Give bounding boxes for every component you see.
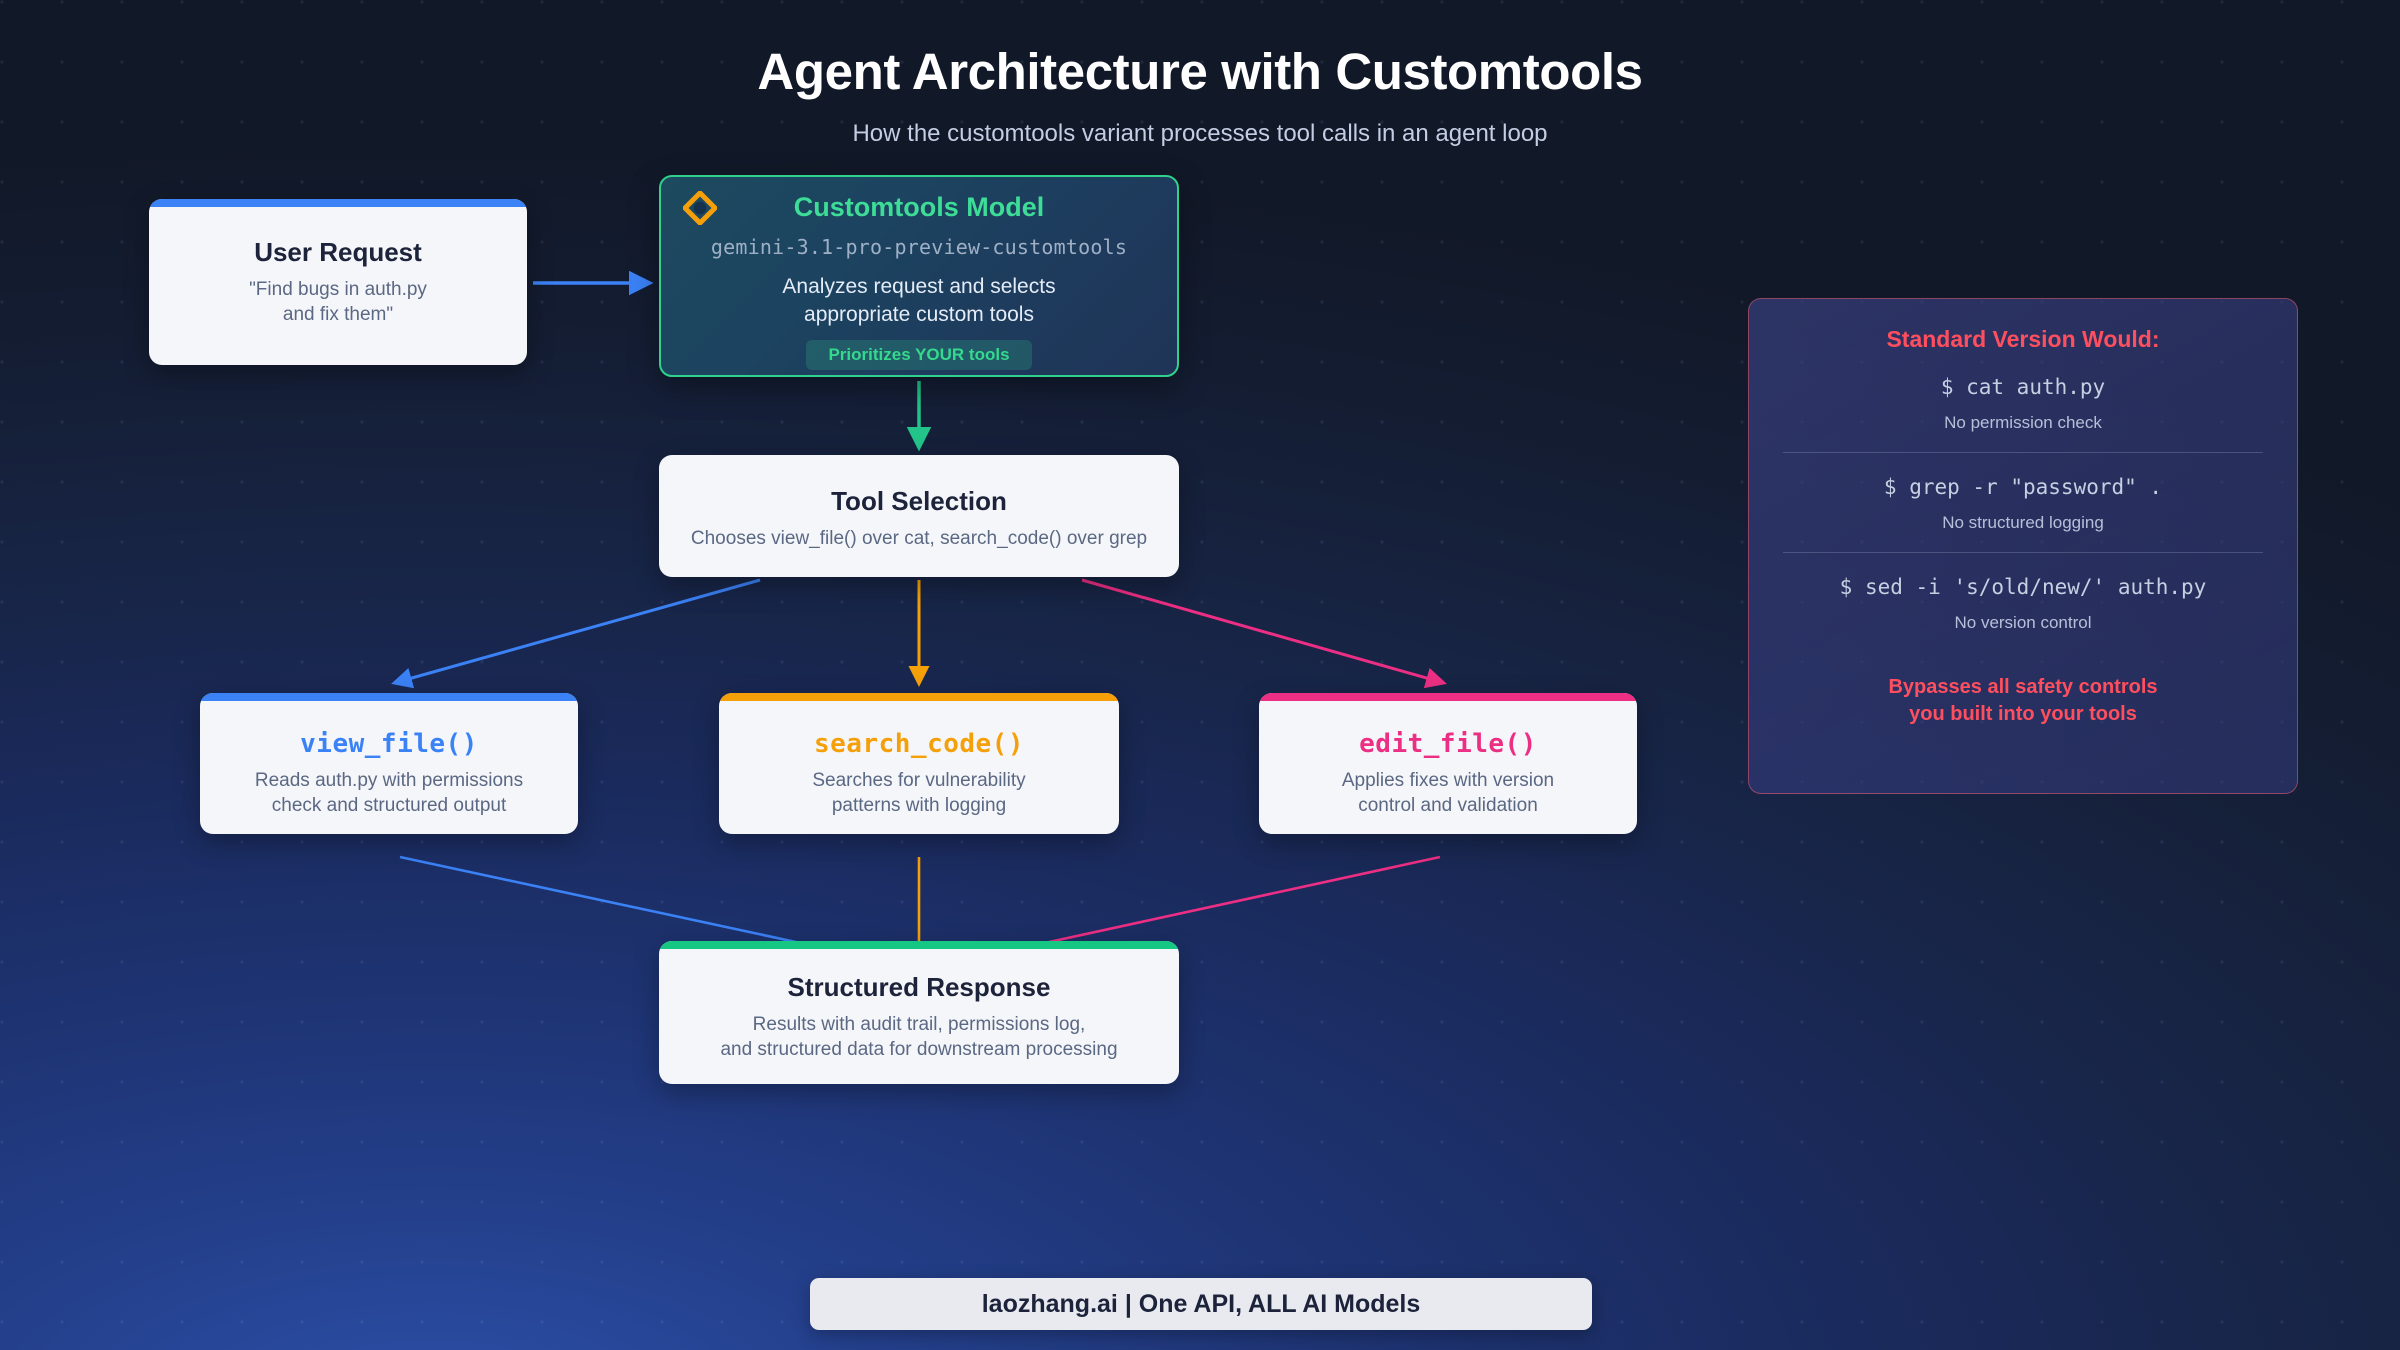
node-structured-response[interactable]: Structured Response Results with audit t… [659, 941, 1179, 1084]
node-edit-file[interactable]: edit_file() Applies fixes with version c… [1259, 693, 1637, 834]
edge-toolselection-to-editfile [1082, 580, 1444, 683]
node-description: "Find bugs in auth.py and fix them" [149, 277, 527, 327]
command-note: No structured logging [1783, 513, 2263, 533]
accent-bar [149, 199, 527, 207]
edge-toolselection-to-viewfile [394, 580, 760, 683]
panel-row: $ cat auth.py No permission check [1783, 353, 2263, 452]
diagram-canvas: Agent Architecture with Customtools How … [0, 0, 2400, 1350]
node-title: search_code() [719, 729, 1119, 759]
node-title: Customtools Model [661, 192, 1177, 223]
page-title: Agent Architecture with Customtools [0, 42, 2400, 101]
accent-bar [200, 693, 578, 701]
command-text: $ cat auth.py [1783, 375, 2263, 399]
node-customtools-model[interactable]: Customtools Model gemini-3.1-pro-preview… [659, 175, 1179, 377]
model-id: gemini-3.1-pro-preview-customtools [661, 235, 1177, 259]
accent-bar [659, 941, 1179, 949]
node-description: Chooses view_file() over cat, search_cod… [659, 526, 1179, 551]
node-description: Reads auth.py with permissions check and… [200, 768, 578, 818]
panel-row: $ grep -r "password" . No structured log… [1783, 452, 2263, 552]
node-description: Applies fixes with version control and v… [1259, 768, 1637, 818]
node-title: edit_file() [1259, 729, 1637, 759]
gem-target-icon [683, 191, 717, 225]
node-description: Searches for vulnerability patterns with… [719, 768, 1119, 818]
command-note: No permission check [1783, 413, 2263, 433]
node-user-request[interactable]: User Request "Find bugs in auth.py and f… [149, 199, 527, 365]
node-title: Structured Response [659, 972, 1179, 1003]
header: Agent Architecture with Customtools How … [0, 0, 2400, 148]
node-search-code[interactable]: search_code() Searches for vulnerability… [719, 693, 1119, 834]
node-title: view_file() [200, 729, 578, 759]
panel-row: $ sed -i 's/old/new/' auth.py No version… [1783, 552, 2263, 652]
command-note: No version control [1783, 613, 2263, 633]
node-title: Tool Selection [659, 486, 1179, 517]
edge-viewfile-to-response [400, 857, 805, 944]
edge-editfile-to-response [1040, 857, 1440, 944]
standard-version-panel: Standard Version Would: $ cat auth.py No… [1748, 298, 2298, 794]
accent-bar [719, 693, 1119, 701]
node-description: Analyzes request and selects appropriate… [661, 273, 1177, 329]
node-title: User Request [149, 237, 527, 268]
footer-brand-bar[interactable]: laozhang.ai | One API, ALL AI Models [810, 1278, 1592, 1330]
command-text: $ grep -r "password" . [1783, 475, 2263, 499]
command-text: $ sed -i 's/old/new/' auth.py [1783, 575, 2263, 599]
node-description: Results with audit trail, permissions lo… [659, 1012, 1179, 1062]
status-badge: Prioritizes YOUR tools [806, 340, 1031, 370]
node-view-file[interactable]: view_file() Reads auth.py with permissio… [200, 693, 578, 834]
accent-bar [1259, 693, 1637, 701]
page-subtitle: How the customtools variant processes to… [0, 120, 2400, 148]
footer-text: laozhang.ai | One API, ALL AI Models [982, 1290, 1421, 1319]
panel-warning: Bypasses all safety controls you built i… [1783, 674, 2263, 727]
node-tool-selection[interactable]: Tool Selection Chooses view_file() over … [659, 455, 1179, 577]
panel-title: Standard Version Would: [1783, 326, 2263, 353]
